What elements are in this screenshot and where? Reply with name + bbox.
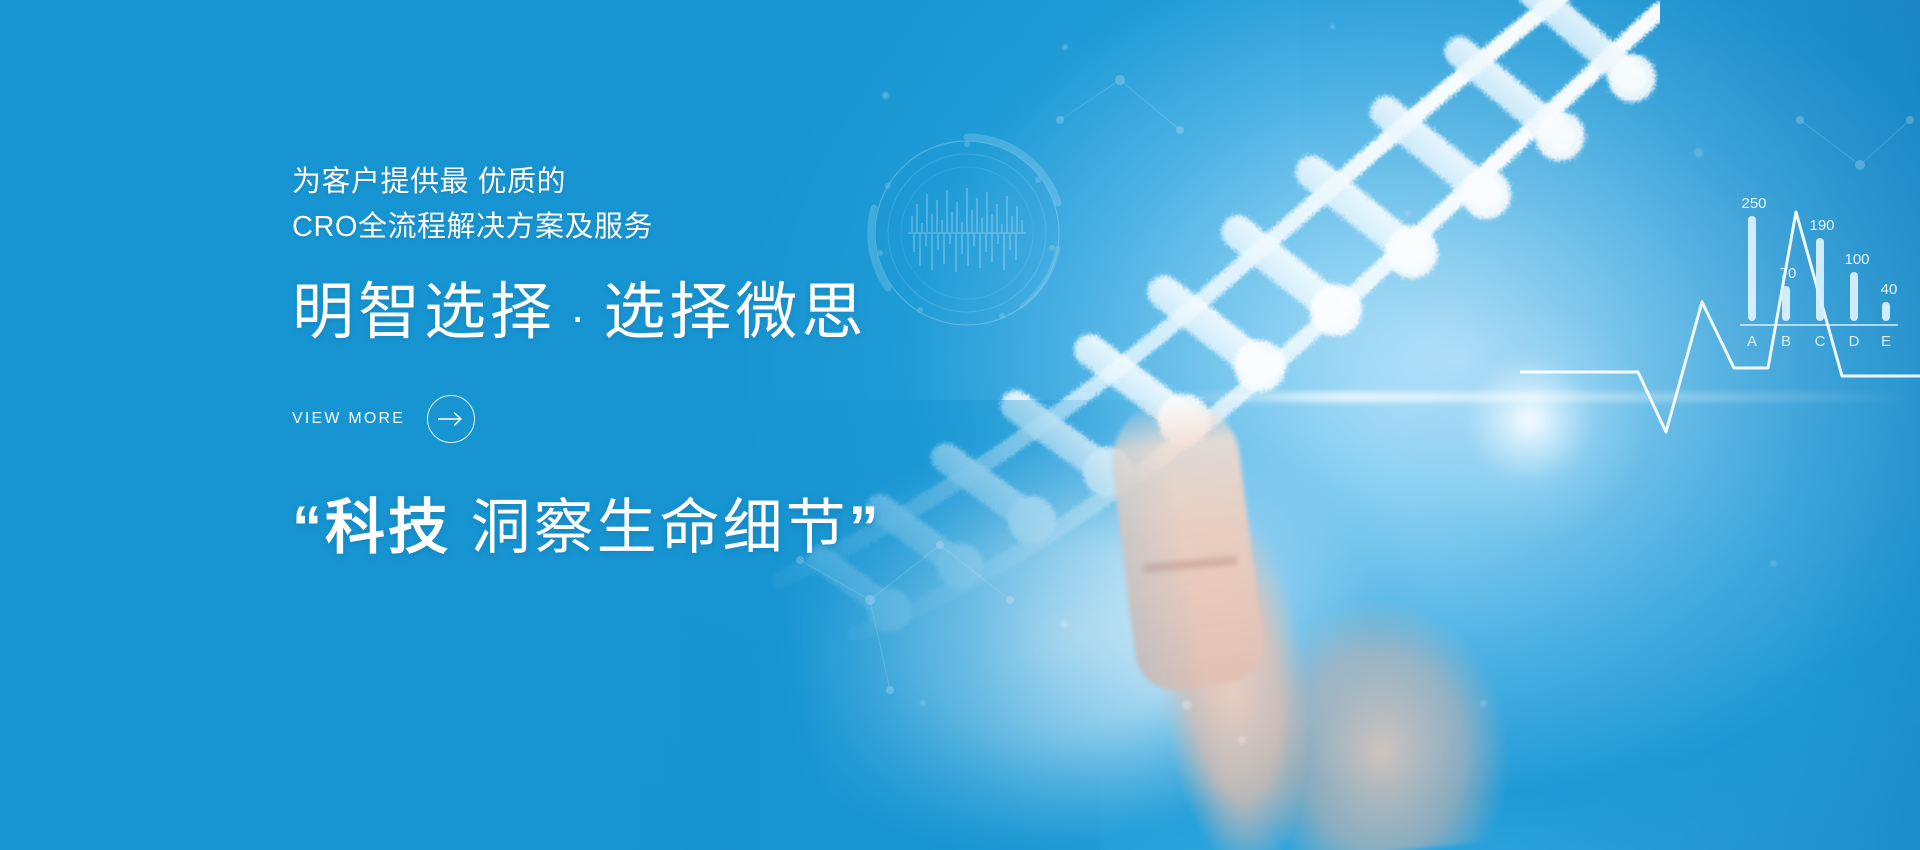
subtitle-line-1: 为客户提供最 优质的 — [292, 166, 566, 198]
quote-close-mark: ” — [849, 494, 882, 561]
hero-quote: “科技 洞察生命细节” — [292, 495, 1052, 561]
view-more-button[interactable]: VIEW MORE — [292, 395, 1052, 443]
headline-left: 明智选择 — [292, 278, 556, 347]
subtitle-line-2: CRO全流程解决方案及服务 — [292, 205, 1052, 250]
quote-strong: 科技 — [325, 494, 451, 561]
headline-right: 选择微思 — [603, 278, 867, 347]
hero-subtitle: 为客户提供最 优质的 CRO全流程解决方案及服务 — [292, 160, 1052, 250]
quote-open-mark: “ — [292, 494, 325, 561]
hero-headline: 明智选择·选择微思 — [292, 278, 1052, 347]
hero-banner: 250 70 190 100 40 A B C D E — [0, 0, 1920, 850]
headline-separator: · — [570, 290, 589, 342]
quote-rest: 洞察生命细节 — [451, 494, 849, 561]
hero-copy: 为客户提供最 优质的 CRO全流程解决方案及服务 明智选择·选择微思 VIEW … — [292, 160, 1052, 561]
arrow-right-icon[interactable] — [427, 395, 475, 443]
view-more-label: VIEW MORE — [292, 410, 405, 428]
